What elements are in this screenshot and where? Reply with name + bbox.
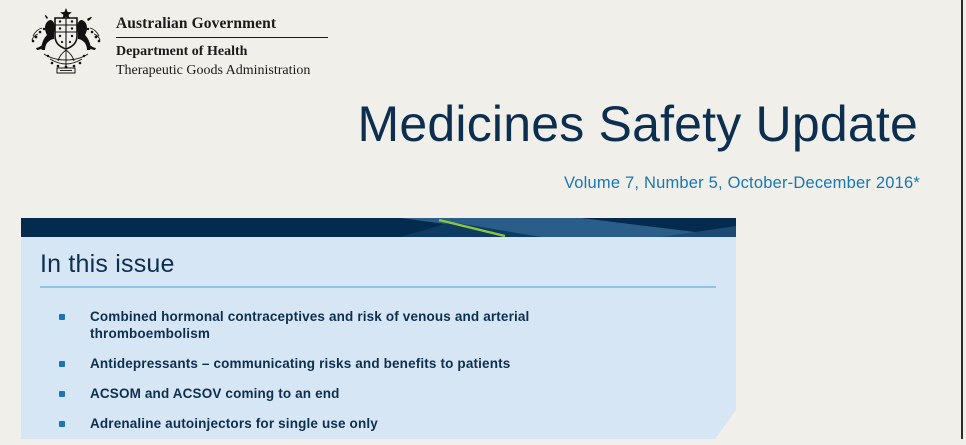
in-this-issue-list: Combined hormonal contraceptives and ris…	[40, 308, 700, 445]
list-item[interactable]: ACSOM and ACSOV coming to an end	[40, 385, 700, 402]
in-this-issue-divider	[40, 286, 716, 288]
list-item-label: Adrenaline autoinjectors for single use …	[90, 415, 378, 432]
bullet-icon	[59, 314, 65, 320]
publication-volume-label: Volume 7, Number 5, October-December 201…	[564, 174, 920, 193]
decorative-banner	[21, 218, 736, 237]
australian-government-label: Australian Government	[116, 14, 328, 33]
list-item[interactable]: Combined hormonal contraceptives and ris…	[40, 308, 700, 342]
bullet-icon	[59, 391, 65, 397]
in-this-issue-heading: In this issue	[40, 249, 175, 279]
list-item[interactable]: Adrenaline autoinjectors for single use …	[40, 415, 700, 432]
list-item-label: Antidepressants – communicating risks an…	[90, 355, 510, 372]
government-header: Australian Government Department of Heal…	[24, 6, 328, 80]
list-item[interactable]: Antidepressants – communicating risks an…	[40, 355, 700, 372]
bullet-icon	[59, 361, 65, 367]
publication-title: Medicines Safety Update	[358, 95, 918, 153]
government-header-divider	[116, 37, 328, 38]
australian-coat-of-arms-icon	[24, 6, 108, 78]
in-this-issue-panel: In this issue Combined hormonal contrace…	[21, 218, 736, 439]
list-item-label: ACSOM and ACSOV coming to an end	[90, 385, 340, 402]
tga-label: Therapeutic Goods Administration	[116, 61, 328, 80]
bullet-icon	[59, 421, 65, 427]
page-edge-rule	[961, 0, 963, 439]
list-item-label: Combined hormonal contraceptives and ris…	[90, 308, 620, 342]
department-of-health-label: Department of Health	[116, 43, 328, 61]
government-header-text: Australian Government Department of Heal…	[116, 6, 328, 80]
